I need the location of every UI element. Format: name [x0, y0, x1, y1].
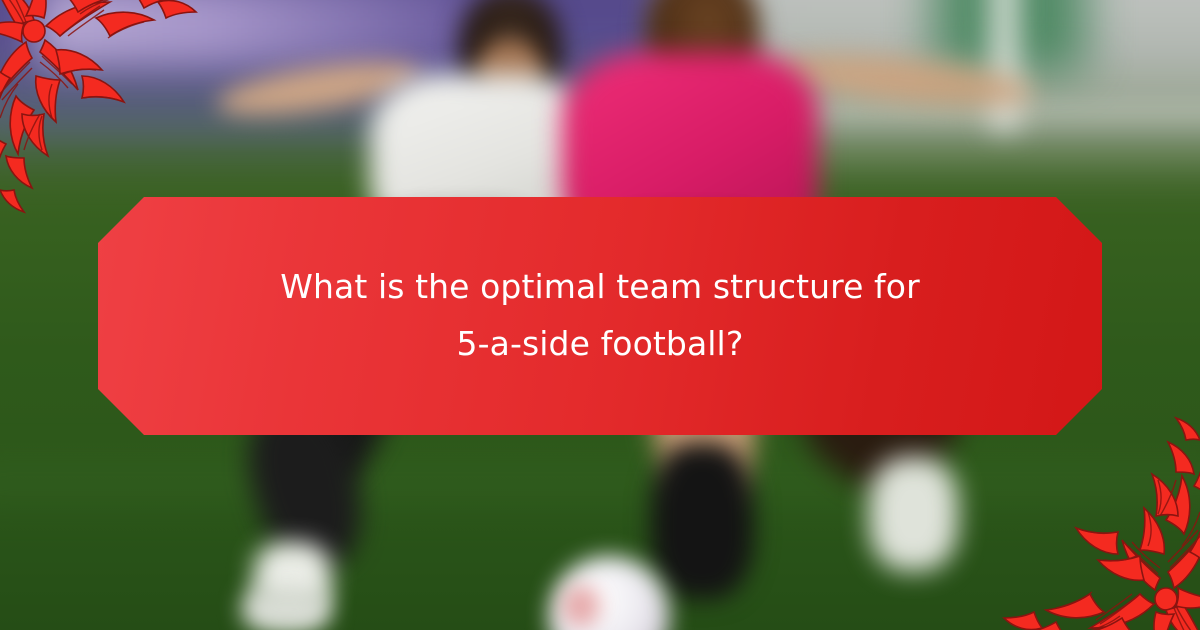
page-title-line-1: What is the optimal team structure for	[280, 267, 920, 306]
social-card: What is the optimal team structure for 5…	[0, 0, 1200, 630]
pitch-line	[0, 471, 1200, 492]
player-white-boot	[242, 585, 332, 630]
page-title: What is the optimal team structure for 5…	[220, 259, 980, 373]
football-ball-panel	[562, 585, 600, 628]
goal-crossbar	[754, 106, 1200, 119]
page-title-line-2: 5-a-side football?	[457, 324, 744, 363]
question-banner: What is the optimal team structure for 5…	[98, 197, 1102, 435]
stadium-hoarding-lettering	[37, 0, 472, 66]
player-pink-sock-front	[651, 443, 753, 599]
player-pink-sock-back	[869, 457, 959, 571]
